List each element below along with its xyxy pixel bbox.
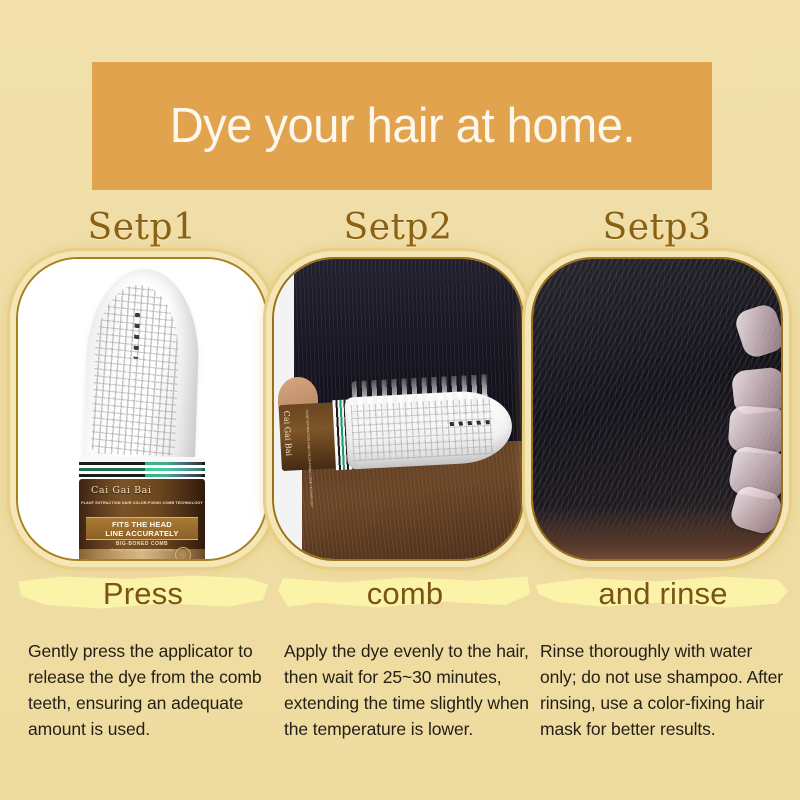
product-feature: BIG-BONED COMB	[79, 541, 205, 547]
product-seal-icon	[175, 547, 191, 561]
step-photo-1: Cai Gai Bai PLANT EXTRACTION HAIR COLOR-…	[16, 257, 268, 561]
step-column-1: Setp1 Cai Gai Bai PLANT EXTRACTION HAIR …	[12, 205, 272, 561]
caption-label-2: comb	[272, 572, 538, 616]
step-label-1: Setp1	[12, 205, 272, 253]
product-subline: PLANT EXTRACTION HAIR COLOR-FIXING COMB …	[79, 501, 205, 506]
steps-row: Setp1 Cai Gai Bai PLANT EXTRACTION HAIR …	[0, 205, 800, 565]
product-brand-label: Cai Gai Bai	[91, 485, 152, 496]
step-description-1: Gently press the applicator to release t…	[28, 638, 280, 742]
step-description-3: Rinse thoroughly with water only; do not…	[540, 638, 792, 742]
caption-cell-3: and rinse	[530, 566, 796, 628]
product-subline: PLANT EXTRACTION HAIR COLOR-FIXING COMB …	[305, 410, 312, 466]
step-label-2: Setp2	[268, 205, 528, 253]
step-column-3: Setp3	[527, 205, 787, 561]
captions-row: Press comb and rinse	[0, 566, 800, 628]
caption-label-3: and rinse	[530, 572, 796, 616]
comb-applicator-device: Cai Gai Bai PLANT EXTRACTION HAIR COLOR-…	[278, 383, 514, 477]
caption-cell-2: comb	[272, 566, 538, 628]
product-claim-box: FITS THE HEAD LINE ACCURATELY	[86, 517, 198, 540]
gloved-hand	[713, 307, 783, 527]
header-banner: Dye your hair at home.	[92, 62, 712, 190]
caption-label-1: Press	[10, 572, 276, 616]
product-brand-label: Cai Gai Bai	[282, 410, 294, 464]
product-bottle: Cai Gai Bai PLANT EXTRACTION HAIR COLOR-…	[79, 479, 205, 561]
step-description-2: Apply the dye evenly to the hair, then w…	[284, 638, 540, 742]
bottle-stripe-band	[79, 462, 205, 479]
descriptions-row: Gently press the applicator to release t…	[0, 638, 800, 788]
comb-head	[344, 389, 514, 470]
comb-bristles	[91, 283, 181, 456]
glove-finger	[733, 302, 783, 361]
infographic-page: Dye your hair at home. Setp1 Cai Gai Bai…	[0, 0, 800, 800]
step-photo-2: Cai Gai Bai PLANT EXTRACTION HAIR COLOR-…	[272, 257, 524, 561]
step-label-3: Setp3	[527, 205, 787, 253]
bottle-handle: Cai Gai Bai PLANT EXTRACTION HAIR COLOR-…	[279, 402, 338, 471]
comb-bristles	[351, 398, 494, 461]
step-photo-3	[531, 257, 783, 561]
product-claim-line-1: FITS THE HEAD	[112, 520, 172, 529]
caption-cell-1: Press	[10, 566, 276, 628]
product-claim-line-2: LINE ACCURATELY	[105, 529, 178, 538]
page-title: Dye your hair at home.	[169, 102, 634, 151]
step-column-2: Setp2 Cai Gai Bai PLANT EXTRACTION HAIR …	[268, 205, 528, 561]
